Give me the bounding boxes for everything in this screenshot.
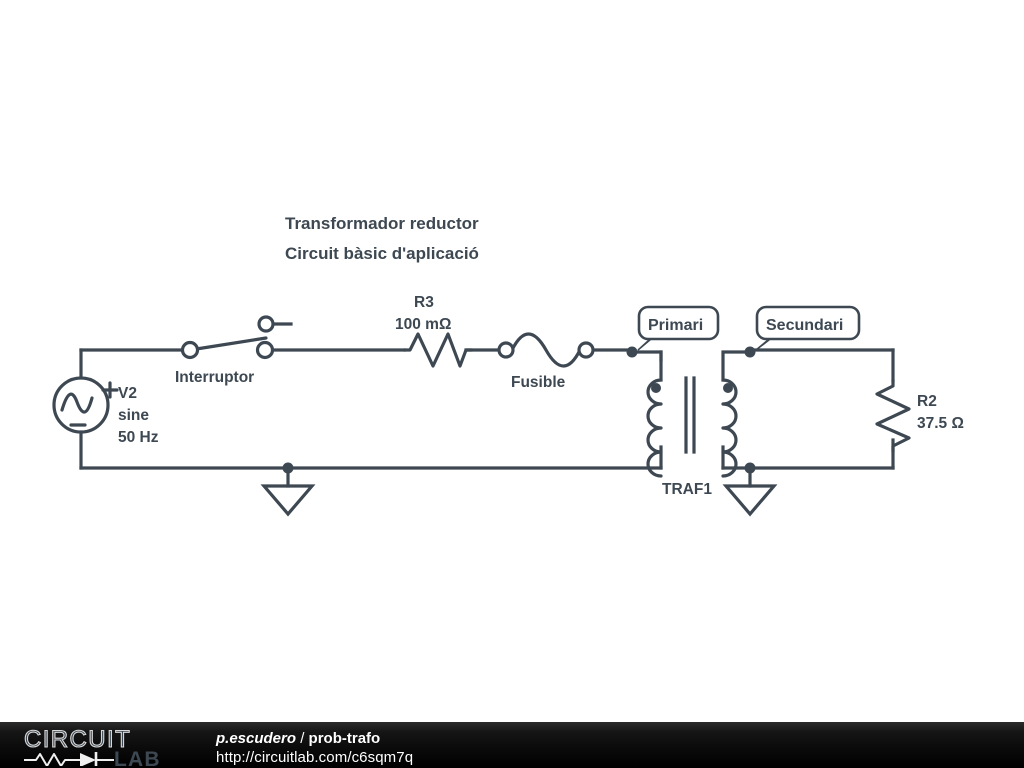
- switch-terminal-no[interactable]: [258, 343, 273, 358]
- r2-value-label: 37.5 Ω: [917, 415, 964, 432]
- ground-primary-triangle: [264, 486, 312, 514]
- footer-project: prob-trafo: [309, 730, 381, 747]
- circuitlab-logo[interactable]: CIRCUIT LAB: [22, 726, 197, 766]
- callout-secundari-label: Secundari: [766, 317, 843, 334]
- footer-credit: p.escudero / prob-trafo: [216, 729, 413, 748]
- footer-text: p.escudero / prob-trafo http://circuitla…: [216, 729, 413, 767]
- logo-wordmark-lab: LAB: [114, 748, 161, 766]
- wire-secondary-top-corner: [723, 352, 750, 380]
- circuit-schematic[interactable]: .wire { stroke: #3d4852; stroke-width: 3…: [0, 0, 1024, 768]
- footer-user: p.escudero: [216, 730, 296, 747]
- secondary-node-dot: [745, 347, 756, 358]
- switch-label: Interruptor: [175, 369, 254, 386]
- resistor-r2[interactable]: R2 37.5 Ω: [877, 380, 964, 452]
- fuse-fusible[interactable]: Fusible: [499, 334, 593, 391]
- primary-coil: [648, 380, 661, 476]
- title-line-2: Circuit bàsic d'aplicació: [285, 244, 479, 263]
- secondary-coil: [723, 380, 736, 476]
- r3-value-label: 100 mΩ: [395, 316, 451, 333]
- source-type-label: sine: [118, 407, 149, 424]
- fuse-terminal-right[interactable]: [579, 343, 593, 357]
- diagram-title: Transformador reductor Circuit bàsic d'a…: [285, 214, 479, 263]
- callout-primari[interactable]: Primari: [627, 307, 719, 358]
- r3-name-label: R3: [414, 294, 434, 311]
- transformer-name-label: TRAF1: [662, 481, 712, 498]
- ground-secondary-triangle: [726, 486, 774, 514]
- source-name-label: V2: [118, 385, 137, 402]
- switch-interruptor[interactable]: Interruptor: [175, 317, 291, 386]
- schematic-canvas: .wire { stroke: #3d4852; stroke-width: 3…: [0, 0, 1024, 768]
- title-line-1: Transformador reductor: [285, 214, 479, 233]
- primary-node-dot: [627, 347, 638, 358]
- switch-terminal-nc[interactable]: [259, 317, 273, 331]
- primary-polarity-dot: [651, 383, 661, 393]
- transformer-traf1[interactable]: TRAF1: [648, 378, 736, 498]
- switch-terminal-pole[interactable]: [183, 343, 198, 358]
- fuse-terminal-left[interactable]: [499, 343, 513, 357]
- r2-name-label: R2: [917, 393, 937, 410]
- footer-url[interactable]: http://circuitlab.com/c6sqm7q: [216, 748, 413, 767]
- secondary-polarity-dot: [723, 383, 733, 393]
- source-frequency-label: 50 Hz: [118, 429, 159, 446]
- ground-primary: [264, 463, 312, 515]
- callout-primari-label: Primari: [648, 317, 703, 334]
- fuse-curve: [512, 334, 580, 366]
- voltage-source-v2[interactable]: V2 sine 50 Hz: [54, 378, 159, 446]
- primary-loop-wires: [81, 350, 661, 468]
- r3-zigzag: [404, 334, 472, 366]
- switch-blade[interactable]: [190, 338, 266, 350]
- resistor-r3[interactable]: R3 100 mΩ: [395, 294, 472, 366]
- footer-separator: /: [296, 730, 309, 747]
- logo-resistor-diode-icon: [24, 752, 114, 766]
- fuse-label: Fusible: [511, 374, 566, 391]
- secondary-loop-wires: [723, 350, 893, 468]
